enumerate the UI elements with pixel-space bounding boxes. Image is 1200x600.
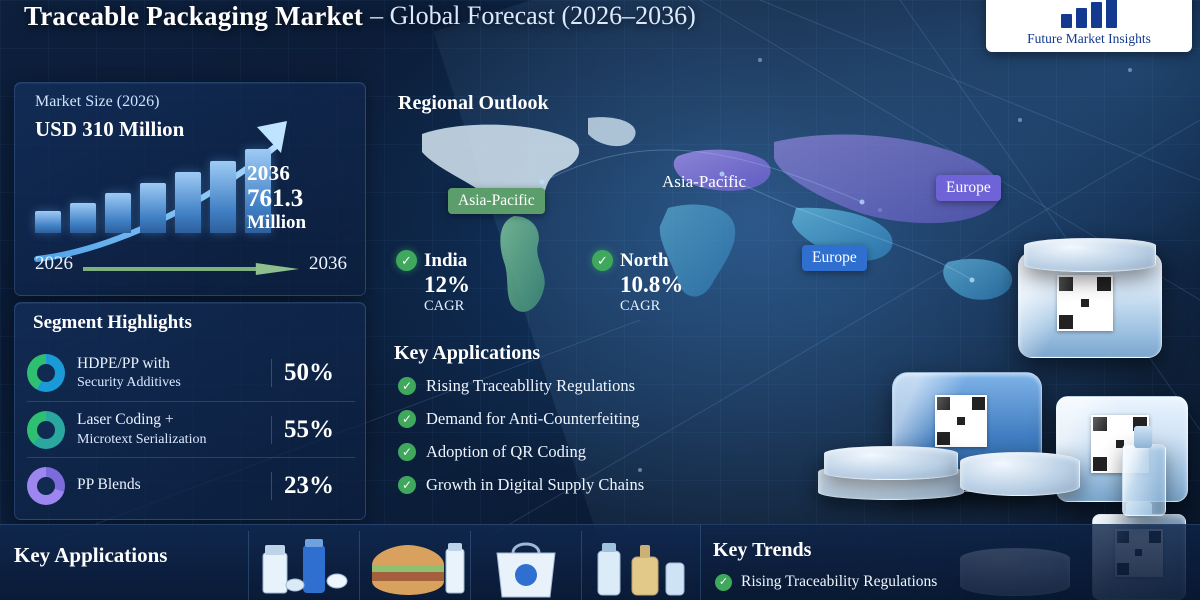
- segment-percent: 23%: [271, 472, 355, 500]
- cagr-caption: CAGR: [424, 298, 470, 315]
- segment-row: HDPE/PP with Security Additives 50%: [27, 345, 355, 401]
- market-size-card: Market Size (2026) USD 310 Million 2036 …: [14, 82, 366, 296]
- cagr-value: 10.8%: [620, 272, 683, 298]
- bar-2029: [140, 183, 166, 233]
- segment-label: PP Blends: [65, 476, 271, 494]
- segment-label: Laser Coding + Microtext Serialization: [65, 411, 271, 448]
- cagr-region-name: India: [424, 250, 470, 272]
- cosmetics-bottle-icon: [582, 531, 692, 600]
- axis-arrow-icon: [83, 259, 299, 269]
- key-applications-list: ✓Rising Traceabllity Regulations ✓Demand…: [398, 376, 718, 508]
- title-subtitle: – Global Forecast (2026–2036): [370, 1, 696, 31]
- segment-label-line1: Laser Coding +: [77, 411, 174, 428]
- bar-2031: [210, 161, 236, 233]
- forecast-axis: 2026 2036: [35, 251, 347, 277]
- segment-percent: 55%: [271, 416, 355, 444]
- logo-bars-icon: [1061, 0, 1117, 28]
- key-trends-title: Key Trends: [713, 539, 811, 562]
- application-icon-cell: [470, 531, 581, 600]
- segment-row: Laser Coding + Microtext Serialization 5…: [27, 401, 355, 457]
- product-spray-bottle: [1116, 424, 1170, 516]
- world-map-svg: [392, 112, 1072, 332]
- key-trends-item: ✓ Rising Traceability Regulations: [715, 573, 937, 591]
- segment-label-line2: Security Additives: [77, 375, 181, 390]
- donut-chart-icon: [27, 467, 65, 505]
- list-item-label: Demand for Anti-Counterfeiting: [426, 409, 640, 428]
- axis-start-label: 2026: [35, 253, 73, 275]
- cagr-india: ✓ India 12% CAGR: [424, 250, 470, 315]
- key-applications-title: Key Applications: [394, 342, 540, 365]
- list-item: ✓Adoption of QR Coding: [398, 442, 718, 462]
- map-label-europe-blue: Europe: [802, 245, 867, 271]
- axis-end-label: 2036: [309, 253, 347, 275]
- cagr-caption: CAGR: [620, 298, 683, 315]
- application-icon-cell: [581, 531, 692, 600]
- page-title: Traceable Packaging Market – Global Fore…: [24, 0, 924, 36]
- check-icon: ✓: [398, 443, 416, 461]
- map-label-asia-pacific-left: Asia-Pacific: [448, 188, 545, 214]
- list-item-label: Adoption of QR Coding: [426, 442, 586, 461]
- cagr-region-name: North: [620, 250, 683, 272]
- list-item: ✓Growth in Digital Supply Chains: [398, 475, 718, 495]
- callout-value: 761.3: [247, 186, 357, 212]
- application-icon-cell: [359, 531, 470, 600]
- product-lid-stack: [818, 446, 964, 502]
- key-applications-bottom-title: Key Applications: [14, 543, 167, 568]
- map-label-asia-pacific-right: Asia-Pacific: [652, 168, 756, 196]
- title-main: Traceable Packaging Market: [24, 1, 363, 32]
- bar-2030: [175, 172, 201, 233]
- shopping-bag-icon: [471, 531, 581, 600]
- segment-highlights-card: Segment Highlights HDPE/PP with Security…: [14, 302, 366, 520]
- food-burger-icon: [360, 531, 470, 600]
- logo-label: Future Market Insights: [1027, 31, 1151, 47]
- map-label-europe-purple: Europe: [936, 175, 1001, 201]
- pills-bottle-icon: [249, 531, 359, 600]
- market-size-label: Market Size (2026): [35, 93, 159, 111]
- donut-chart-icon: [27, 411, 65, 449]
- donut-chart-icon: [27, 354, 65, 392]
- list-item: ✓Demand for Anti-Counterfeiting: [398, 409, 718, 429]
- segment-percent: 50%: [271, 359, 355, 387]
- qr-code-icon: [935, 395, 987, 447]
- callout-unit: Million: [247, 212, 357, 234]
- infographic-canvas: Traceable Packaging Market – Global Fore…: [0, 0, 1200, 600]
- callout-year: 2036: [247, 161, 357, 186]
- qr-code-icon: [1057, 275, 1113, 331]
- segment-rows: HDPE/PP with Security Additives 50% Lase…: [27, 345, 355, 513]
- segment-label-line2: Microtext Serialization: [77, 432, 206, 447]
- segment-label-line1: PP Blends: [77, 476, 141, 493]
- forecast-callout: 2036 761.3 Million: [247, 161, 357, 234]
- segment-label-line1: HDPE/PP with: [77, 355, 170, 372]
- cagr-value: 12%: [424, 272, 470, 298]
- bar-2028: [105, 193, 131, 233]
- product-jar-blue-large: [1010, 238, 1170, 368]
- product-lid-small: [960, 452, 1080, 496]
- bar-2027: [70, 203, 96, 233]
- list-item: ✓Rising Traceabllity Regulations: [398, 376, 718, 396]
- key-trends-band: Key Trends ✓ Rising Traceability Regulat…: [700, 524, 1200, 600]
- segment-highlights-title: Segment Highlights: [33, 312, 192, 334]
- bar-2026: [35, 211, 61, 233]
- key-trends-item-label: Rising Traceability Regulations: [741, 573, 937, 590]
- application-icon-cell: [248, 531, 359, 600]
- segment-row: PP Blends 23%: [27, 457, 355, 513]
- list-item-label: Rising Traceabllity Regulations: [426, 376, 635, 395]
- segment-label: HDPE/PP with Security Additives: [65, 355, 271, 392]
- world-map: [392, 112, 1072, 332]
- application-icon-strip: [248, 531, 688, 600]
- cagr-north-america: ✓ North 10.8% CAGR: [620, 250, 683, 315]
- check-icon: ✓: [398, 476, 416, 494]
- check-icon: ✓: [592, 250, 613, 271]
- brand-logo: Future Market Insights: [986, 0, 1192, 52]
- key-applications-bottom-band: Key Applications: [0, 524, 700, 600]
- list-item-label: Growth in Digital Supply Chains: [426, 475, 644, 494]
- check-icon: ✓: [715, 574, 732, 591]
- check-icon: ✓: [396, 250, 417, 271]
- check-icon: ✓: [398, 377, 416, 395]
- check-icon: ✓: [398, 410, 416, 428]
